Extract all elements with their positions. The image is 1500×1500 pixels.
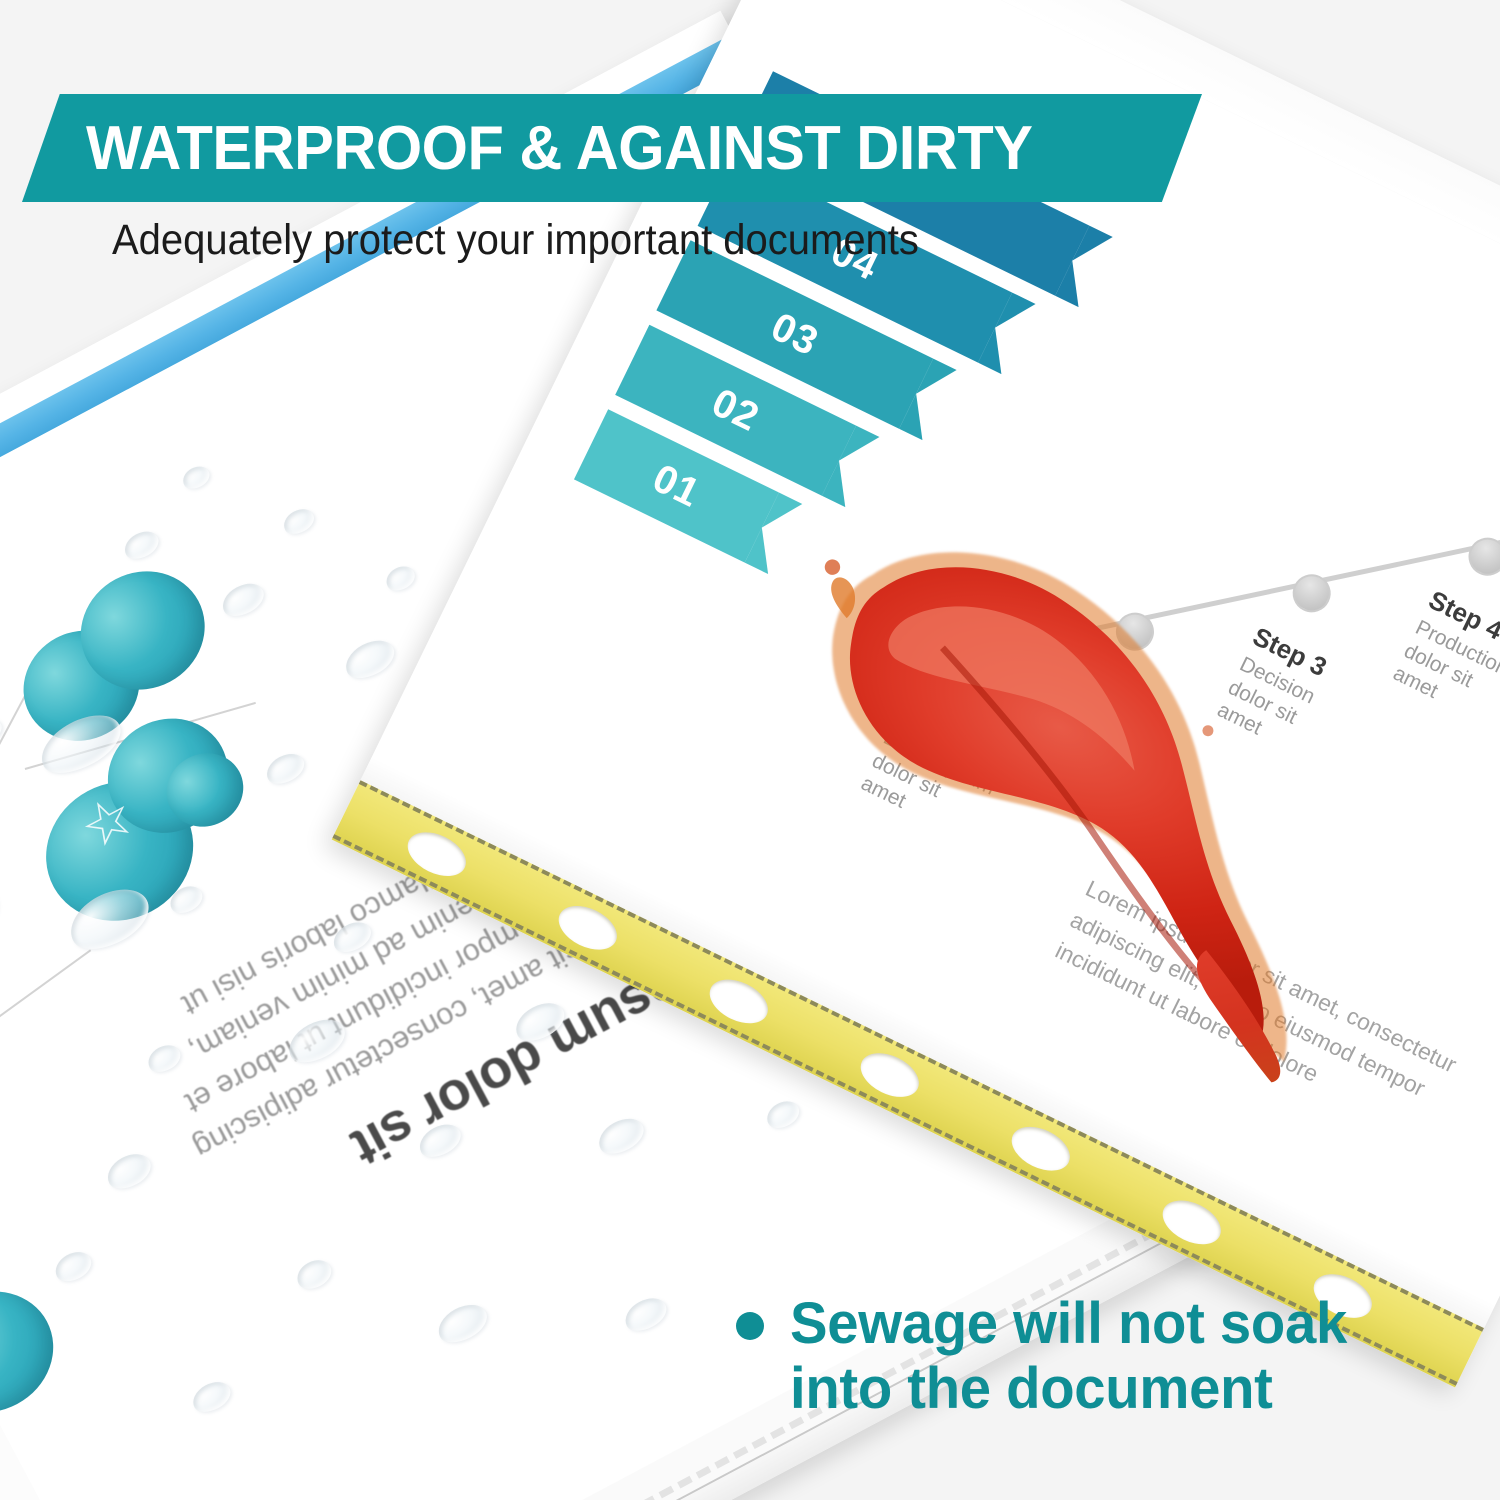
product-marketing-image: ☆ ☆ Lorem ipsum dolor sit Lorem ipsum do… [0, 0, 1500, 1500]
feature-callout: Sewage will not soak into the document [736, 1292, 1456, 1422]
water-droplet [432, 1297, 493, 1350]
water-droplet [762, 1096, 803, 1133]
timeline-node [1462, 531, 1500, 582]
water-droplet [593, 1112, 649, 1161]
water-droplet [120, 526, 163, 564]
water-droplet [262, 748, 310, 790]
chart-badge [0, 1269, 75, 1434]
water-droplet [217, 577, 269, 622]
water-droplet [0, 872, 7, 949]
headline-banner: WATERPROOF & AGAINST DIRTY [22, 94, 1202, 202]
feature-callout-text: Sewage will not soak into the document [790, 1292, 1436, 1422]
water-droplet [179, 462, 213, 493]
connector-line [0, 949, 91, 1074]
ketchup-splatter [1201, 723, 1216, 738]
water-droplet [382, 562, 419, 596]
subheadline-text: Adequately protect your important docume… [112, 216, 919, 265]
water-droplet [188, 1376, 236, 1418]
ketchup-splatter [822, 557, 843, 578]
water-droplet [102, 1147, 157, 1195]
water-droplet [50, 1246, 96, 1287]
water-droplet [292, 1254, 336, 1294]
water-droplet [339, 633, 400, 686]
water-droplet [280, 504, 319, 538]
headline-text: WATERPROOF & AGAINST DIRTY [86, 113, 1032, 184]
water-droplet [620, 1292, 672, 1337]
bullet-dot-icon [736, 1312, 764, 1340]
